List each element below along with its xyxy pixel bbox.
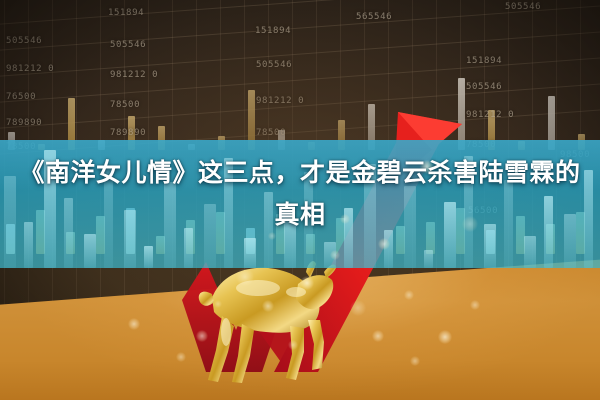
headline-line-2: 真相 <box>0 194 600 236</box>
headline: 《南洋女儿情》这三点，才是金碧云杀害陆雪霖的 真相 <box>0 152 600 236</box>
headline-line-1: 《南洋女儿情》这三点，才是金碧云杀害陆雪霖的 <box>19 158 580 187</box>
article-thumbnail: 1518945055465055461518945055461518949812… <box>0 0 600 400</box>
